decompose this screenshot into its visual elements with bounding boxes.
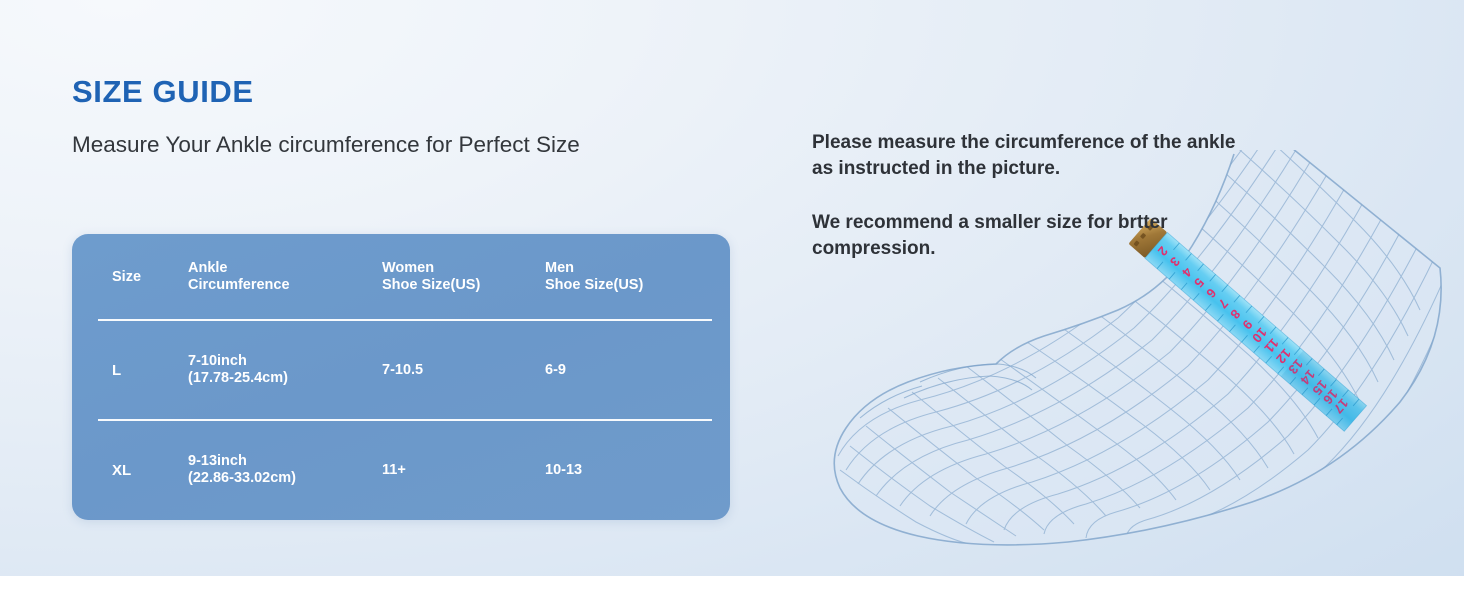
cell-size: L xyxy=(72,362,188,379)
cell-size: XL xyxy=(72,462,188,479)
table-row: XL 9-13inch (22.86-33.02cm) 11+ 10-13 xyxy=(72,420,730,520)
page-title: SIZE GUIDE xyxy=(72,74,752,110)
column-header-ankle-circumference: Ankle Circumference xyxy=(188,260,382,294)
size-table-card: Size Ankle Circumference Women Shoe Size… xyxy=(72,234,730,520)
page-subtitle: Measure Your Ankle circumference for Per… xyxy=(72,128,592,162)
instruction-paragraph-2: We recommend a smaller size for brtter c… xyxy=(812,210,1242,262)
instruction-paragraph-1: Please measure the circumference of the … xyxy=(812,130,1242,182)
column-header-men-shoe-size: Men Shoe Size(US) xyxy=(545,260,730,294)
size-table: Size Ankle Circumference Women Shoe Size… xyxy=(72,234,730,520)
column-header-size: Size xyxy=(72,269,188,286)
instructions-block: Please measure the circumference of the … xyxy=(812,130,1242,262)
table-header-row: Size Ankle Circumference Women Shoe Size… xyxy=(72,234,730,320)
cell-women-shoe-size: 11+ xyxy=(382,462,545,479)
size-guide-page: 2 3 4 5 6 7 8 9 10 11 12 13 14 15 xyxy=(0,0,1464,600)
table-row: L 7-10inch (17.78-25.4cm) 7-10.5 6-9 xyxy=(72,320,730,420)
cell-women-shoe-size: 7-10.5 xyxy=(382,362,545,379)
cell-men-shoe-size: 6-9 xyxy=(545,362,730,379)
cell-ankle-circumference: 7-10inch (17.78-25.4cm) xyxy=(188,353,382,387)
cell-men-shoe-size: 10-13 xyxy=(545,462,730,479)
background-bottom-strip xyxy=(0,576,1464,600)
column-header-women-shoe-size: Women Shoe Size(US) xyxy=(382,260,545,294)
cell-ankle-circumference: 9-13inch (22.86-33.02cm) xyxy=(188,453,382,487)
size-guide-heading-block: SIZE GUIDE Measure Your Ankle circumfere… xyxy=(72,74,752,162)
